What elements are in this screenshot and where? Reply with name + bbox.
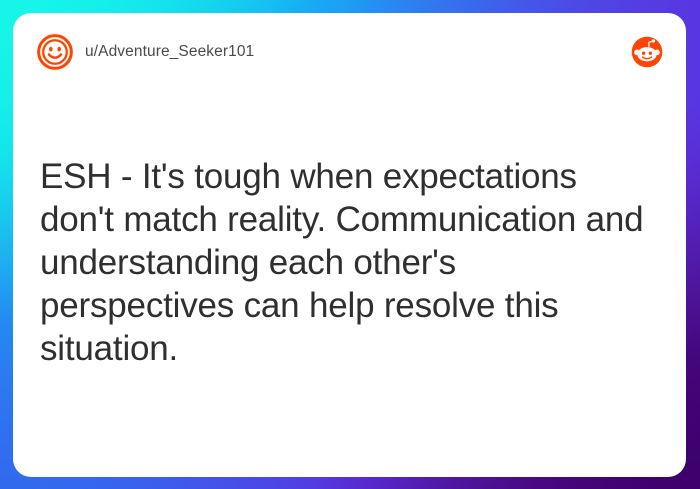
screenshot-root: u/Adventure_Seeker101 ESH [0, 0, 700, 489]
user-identity-block[interactable]: u/Adventure_Seeker101 [36, 33, 254, 71]
reddit-snoo-logo-icon[interactable] [630, 35, 664, 69]
smiley-face-avatar-icon[interactable] [36, 33, 74, 71]
username-label: u/Adventure_Seeker101 [85, 43, 254, 61]
comment-text: ESH - It's tough when expectations don't… [40, 155, 656, 370]
card-header: u/Adventure_Seeker101 [13, 13, 686, 91]
card-body: ESH - It's tough when expectations don't… [40, 155, 656, 370]
reddit-comment-card: u/Adventure_Seeker101 ESH [13, 13, 686, 477]
